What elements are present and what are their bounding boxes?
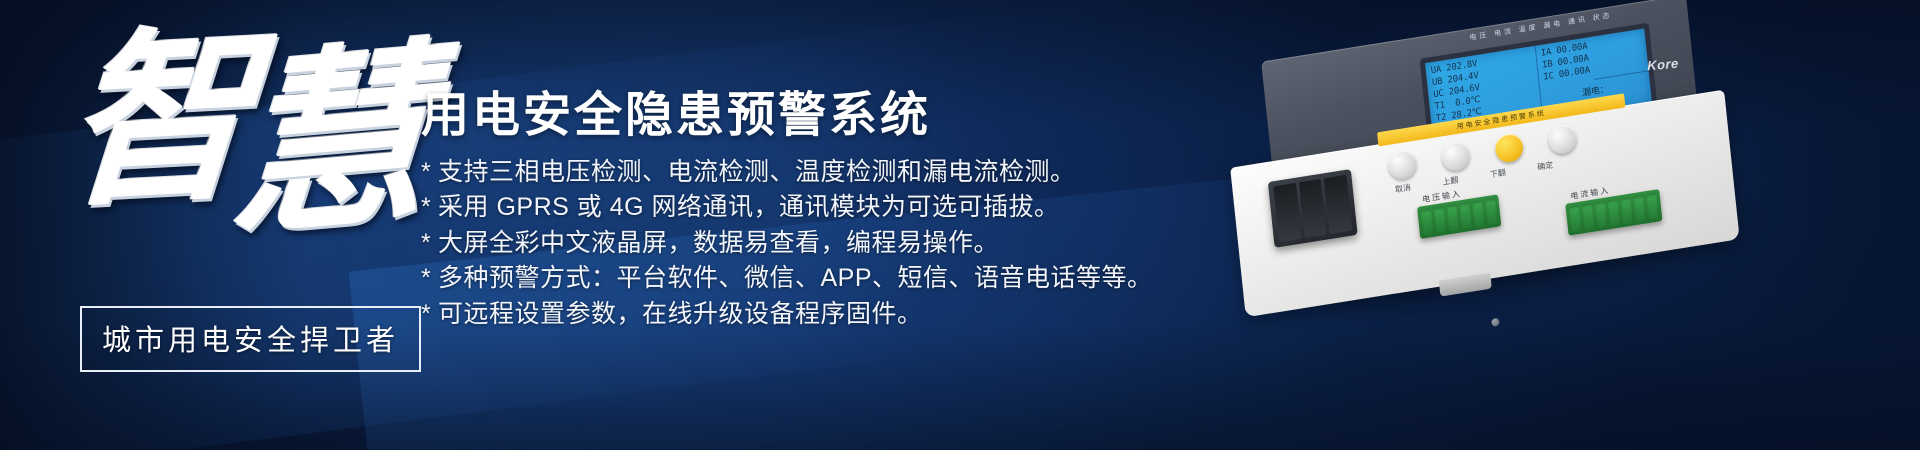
terminal-pin: [1446, 204, 1460, 232]
bullet-marker: *: [421, 190, 438, 226]
device-black-connector: [1268, 169, 1358, 248]
device-up-button[interactable]: [1441, 140, 1472, 172]
terminal-pin: [1607, 199, 1621, 227]
connector-pin: [1273, 183, 1301, 242]
device-brand-logo: Kore: [1647, 55, 1679, 73]
list-item: *多种预警方式：平台软件、微信、APP、短信、语音电话等等。: [421, 261, 1153, 297]
bullet-text: 支持三相电压检测、电流检测、温度检测和漏电流检测。: [438, 158, 1076, 186]
terminal-pin: [1485, 198, 1499, 226]
page-title: 用电安全隐患预警系统: [421, 88, 1153, 145]
device-screw: [1491, 318, 1500, 327]
feature-list: *支持三相电压检测、电流检测、温度检测和漏电流检测。 *采用 GPRS 或 4G…: [421, 155, 1153, 333]
device-cancel-button[interactable]: [1387, 149, 1418, 181]
terminal-pin: [1594, 201, 1608, 229]
bullet-marker: *: [421, 226, 438, 262]
product-device-image: 电压 电流 温度 漏电 通讯 状态 UA 202.8V UB 204.4V UC…: [1201, 0, 1847, 382]
copy-block: 用电安全隐患预警系统 *支持三相电压检测、电流检测、温度检测和漏电流检测。 *采…: [421, 88, 1153, 332]
calligraphy-char-hui: 慧: [224, 36, 436, 248]
bullet-text: 采用 GPRS 或 4G 网络通讯，通讯模块为可选可插拔。: [438, 193, 1059, 221]
terminal-pin: [1633, 195, 1647, 223]
terminal-pin: [1433, 206, 1447, 234]
terminal-pin: [1472, 200, 1486, 228]
device-down-button[interactable]: [1494, 132, 1525, 164]
bullet-marker: *: [421, 155, 438, 191]
terminal-pin: [1459, 202, 1473, 230]
calligraphy-logo: 智 慧: [64, 18, 404, 288]
list-item: *可远程设置参数，在线升级设备程序固件。: [421, 297, 1153, 333]
bullet-text: 可远程设置参数，在线升级设备程序固件。: [438, 300, 923, 328]
tagline-text: 城市用电安全捍卫者: [102, 317, 399, 359]
tagline-box: 城市用电安全捍卫者: [80, 306, 421, 372]
terminal-pin: [1620, 197, 1634, 225]
bullet-text: 大屏全彩中文液晶屏，数据易查看，编程易操作。: [438, 229, 999, 257]
bullet-text: 多种预警方式：平台软件、微信、APP、短信、语音电话等等。: [438, 264, 1153, 292]
bullet-marker: *: [421, 297, 438, 333]
terminal-pin: [1420, 208, 1434, 236]
list-item: *采用 GPRS 或 4G 网络通讯，通讯模块为可选可插拔。: [421, 190, 1153, 226]
list-item: *支持三相电压检测、电流检测、温度检测和漏电流检测。: [421, 155, 1153, 191]
terminal-pin: [1581, 203, 1595, 231]
connector-pin: [1324, 175, 1352, 234]
connector-pin: [1299, 179, 1327, 238]
terminal-pin: [1646, 193, 1660, 221]
list-item: *大屏全彩中文液晶屏，数据易查看，编程易操作。: [421, 226, 1153, 262]
device-confirm-button[interactable]: [1547, 123, 1578, 155]
promo-banner: 智 慧 城市用电安全捍卫者 用电安全隐患预警系统 *支持三相电压检测、电流检测、…: [0, 0, 1920, 450]
bullet-marker: *: [421, 261, 438, 297]
terminal-pin: [1569, 205, 1583, 233]
